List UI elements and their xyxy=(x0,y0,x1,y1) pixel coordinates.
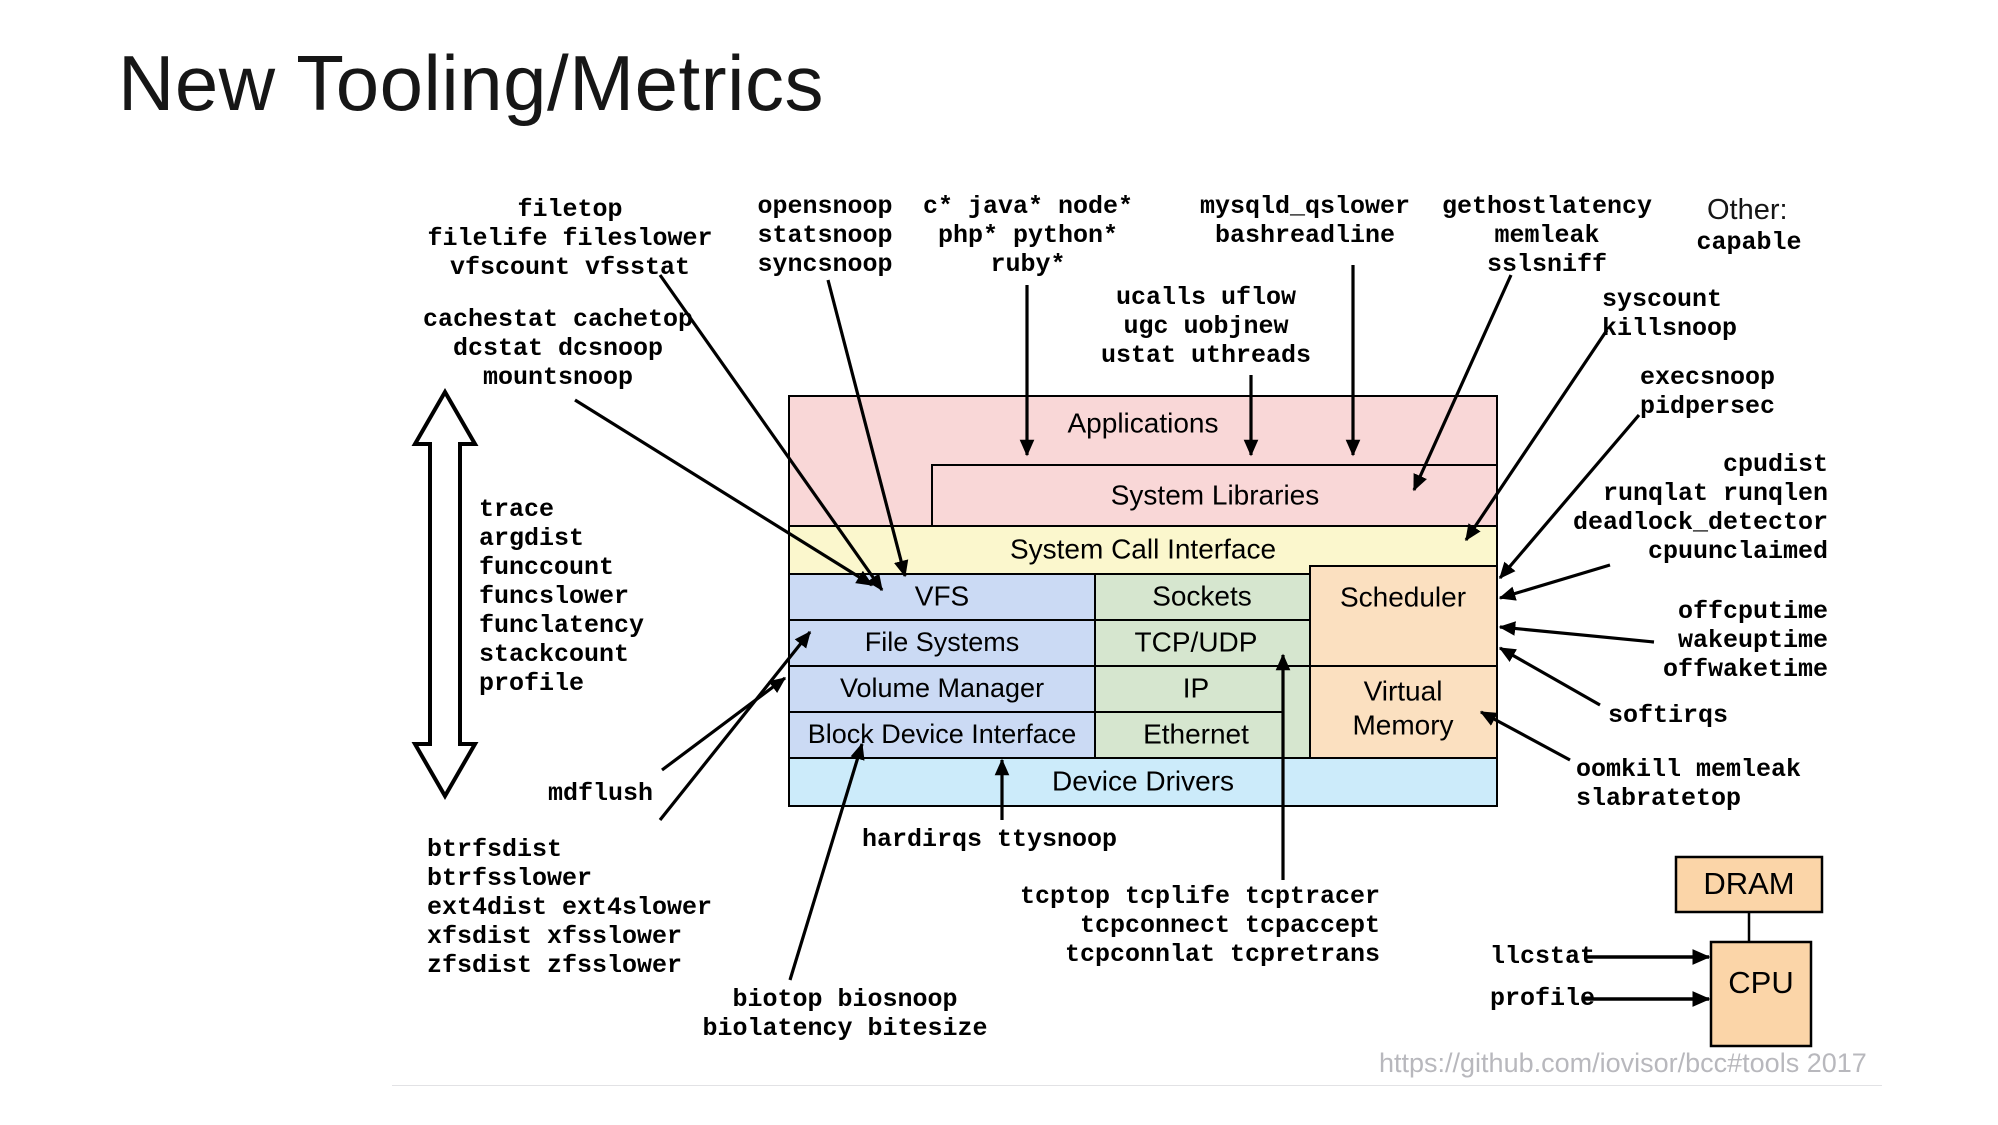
annotation-llcstat-label: llcstat xyxy=(1490,942,1640,971)
label-volume-manager: Volume Manager xyxy=(840,673,1044,703)
annotation-execsnoop-group: execsnoop pidpersec xyxy=(1640,363,1900,421)
annotation-cachestat-group: cachestat cachetop dcstat dcsnoop mounts… xyxy=(408,305,708,392)
label-system-call-interface: System Call Interface xyxy=(1010,533,1276,564)
label-applications: Applications xyxy=(1068,407,1219,438)
other-section-header: Other: xyxy=(1707,194,1788,227)
label-vfs: VFS xyxy=(915,580,969,611)
label-virtual-memory-2: Memory xyxy=(1352,709,1453,740)
annotation-biotop-group: biotop biosnoop biolatency bitesize xyxy=(700,985,990,1043)
annotation-trace-group: trace argdist funccount funcslower funcl… xyxy=(479,495,739,698)
annotation-other-tools: capable xyxy=(1654,228,1844,257)
kernel-stack-boxes: Applications System Libraries System Cal… xyxy=(789,396,1497,806)
annotation-hardirqs-group: hardirqs ttysnoop xyxy=(862,825,1162,854)
label-ethernet: Ethernet xyxy=(1143,718,1249,749)
dynamic-tracing-range-arrow xyxy=(0,0,472,395)
annotation-opensnoop-group: opensnoop statsnoop syncsnoop xyxy=(740,192,910,279)
annotation-cpudist-group: cpudist runqlat runqlen deadlock_detecto… xyxy=(1560,450,1828,566)
annotation-mysqld-group: mysqld_qslower bashreadline xyxy=(1180,192,1430,250)
annotation-runtimes-group: c* java* node* php* python* ruby* xyxy=(918,192,1138,279)
label-device-drivers: Device Drivers xyxy=(1052,765,1234,796)
annotation-oomkill-group: oomkill memleak slabratetop xyxy=(1576,755,1876,813)
double-headed-arrow xyxy=(415,392,475,796)
label-system-libraries: System Libraries xyxy=(1111,479,1320,510)
annotation-profile-label: profile xyxy=(1490,984,1640,1013)
label-tcp-udp: TCP/UDP xyxy=(1135,626,1258,657)
label-file-systems: File Systems xyxy=(865,627,1020,657)
slide-canvas: New Tooling/Metrics xyxy=(0,0,1998,1125)
annotation-softirqs-group: softirqs xyxy=(1608,701,1828,730)
annotation-offcputime-group: offcputime wakeuptime offwaketime xyxy=(1588,597,1828,684)
annotation-syscount-group: syscount killsnoop xyxy=(1602,285,1862,343)
annotation-gethostlatency-group: gethostlatency memleak sslsniff xyxy=(1432,192,1662,279)
label-dram: DRAM xyxy=(1703,866,1794,901)
annotation-tcptop-group: tcptop tcplife tcptracer tcpconnect tcpa… xyxy=(1020,882,1380,969)
annotation-fsdist-group: btrfsdist btrfsslower ext4dist ext4slowe… xyxy=(427,835,757,980)
annotation-ucalls-group: ucalls uflow ugc uobjnew ustat uthreads xyxy=(1086,283,1326,370)
connector-cpudist xyxy=(1500,565,1610,598)
label-virtual-memory-1: Virtual xyxy=(1364,675,1443,706)
footer-divider xyxy=(392,1085,1882,1086)
source-url-footer: https://github.com/iovisor/bcc#tools 201… xyxy=(1379,1048,1867,1079)
label-block-device-interface: Block Device Interface xyxy=(808,719,1077,749)
label-ip: IP xyxy=(1183,672,1209,703)
annotation-filetop-group: filetop filelife fileslower vfscount vfs… xyxy=(420,195,720,282)
annotation-mdflush-group: mdflush xyxy=(548,779,748,808)
label-cpu: CPU xyxy=(1728,965,1793,1000)
label-sockets: Sockets xyxy=(1152,580,1252,611)
label-scheduler: Scheduler xyxy=(1340,581,1466,612)
connector-softirqs xyxy=(1500,648,1600,705)
